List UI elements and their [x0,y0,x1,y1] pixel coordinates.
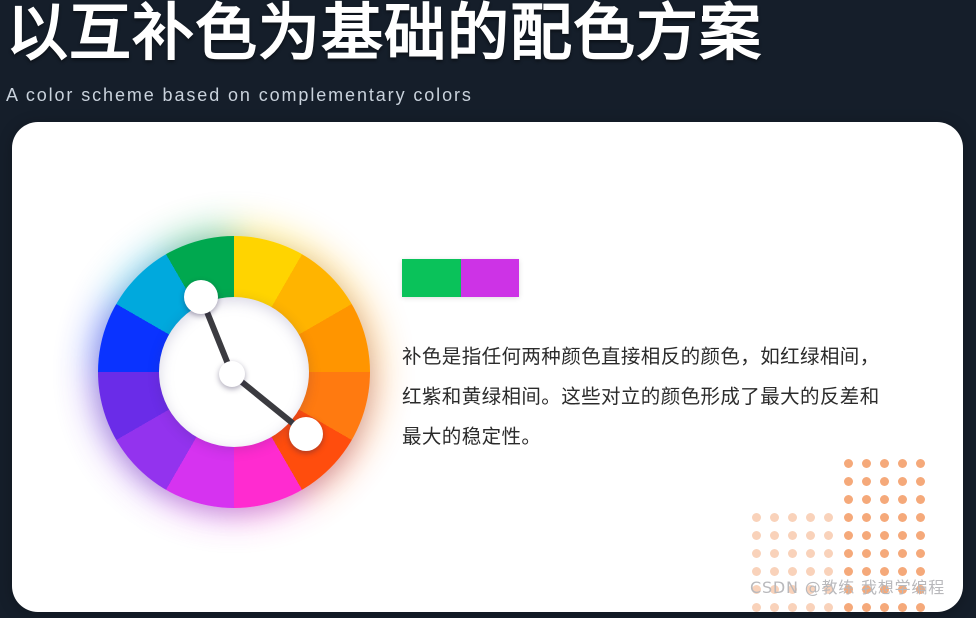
dot [765,508,783,526]
dot [839,472,857,490]
dot [801,526,819,544]
dot [783,508,801,526]
primary-color-handle[interactable] [184,280,218,314]
dot [875,472,893,490]
watermark-label: CSDN @教练 我想学编程 [750,574,945,598]
slide-canvas: 以互补色为基础的配色方案 A color scheme based on com… [0,0,976,618]
dot [765,598,783,612]
dot [893,472,911,490]
dot [875,526,893,544]
dot [893,598,911,612]
dot [911,598,929,612]
dot [839,544,857,562]
dot [839,526,857,544]
complement-color-handle[interactable] [289,417,323,451]
dot [747,544,765,562]
dot [783,544,801,562]
page-title: 以互补色为基础的配色方案 [6,0,762,70]
dot [857,544,875,562]
content-card: 补色是指任何两种颜色直接相反的颜色，如红绿相间，红紫和黄绿相间。这些对立的颜色形… [12,122,963,612]
dot [765,526,783,544]
dot [819,598,837,612]
dot [839,598,857,612]
dot [801,508,819,526]
dot [857,598,875,612]
dot [819,508,837,526]
magenta-swatch[interactable] [461,259,520,297]
dot [893,526,911,544]
dot [893,544,911,562]
swatch-pair [402,259,519,297]
dot [747,598,765,612]
dot [747,508,765,526]
dot [819,544,837,562]
dot [839,490,857,508]
green-swatch[interactable] [402,259,461,297]
dot [857,526,875,544]
dot [893,508,911,526]
dot [839,508,857,526]
dot [857,490,875,508]
dot [765,544,783,562]
dot [747,526,765,544]
color-wheel[interactable] [84,222,384,522]
dot [783,598,801,612]
dot [801,598,819,612]
dot [911,544,929,562]
dot [875,598,893,612]
dot [801,544,819,562]
dot [875,490,893,508]
dot [783,526,801,544]
dot [875,508,893,526]
page-subtitle: A color scheme based on complementary co… [6,83,473,107]
dot [911,454,929,472]
dot [857,472,875,490]
body-paragraph: 补色是指任何两种颜色直接相反的颜色，如红绿相间，红紫和黄绿相间。这些对立的颜色形… [402,337,892,457]
header-banner: 以互补色为基础的配色方案 A color scheme based on com… [0,0,976,122]
dot [911,490,929,508]
dot [857,508,875,526]
dot [911,472,929,490]
dot [819,526,837,544]
dot [875,544,893,562]
dot [911,526,929,544]
dot [893,490,911,508]
center-pivot-handle[interactable] [219,361,245,387]
dot [911,508,929,526]
description-panel: 补色是指任何两种颜色直接相反的颜色，如红绿相间，红紫和黄绿相间。这些对立的颜色形… [402,259,902,457]
